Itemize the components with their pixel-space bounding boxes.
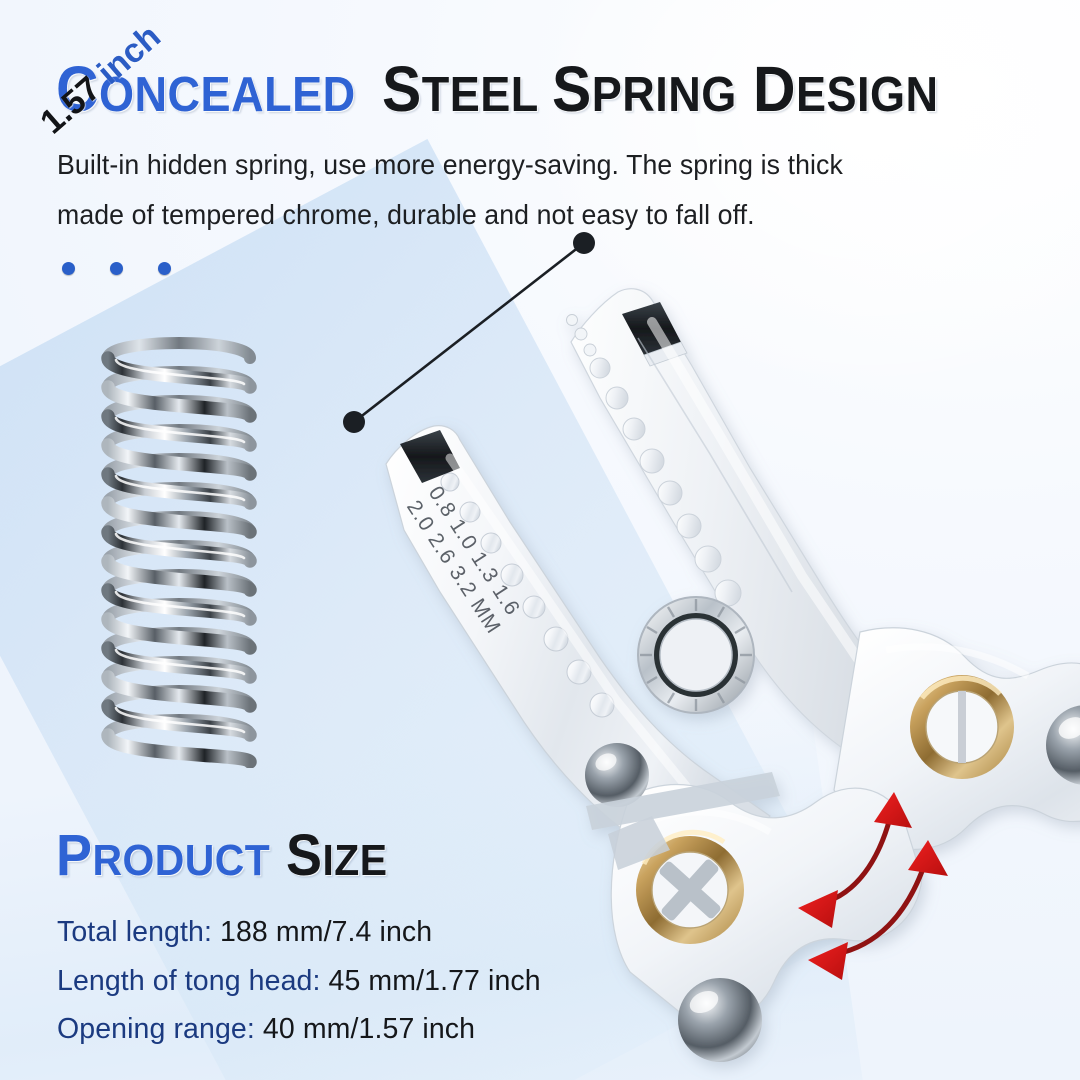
spec-label: Length of tong head: — [57, 965, 320, 997]
spec-value: 188 mm/7.4 inch — [212, 916, 432, 948]
title-rest-2: PRING — [592, 68, 737, 122]
spec-label: Total length: — [57, 916, 212, 948]
title-cap-2: S — [552, 53, 592, 125]
dimension-callout — [320, 225, 610, 445]
size-title-rest-0: RODUCT — [92, 836, 270, 885]
spec-row: Opening range: 40 mm/1.57 inch — [57, 1005, 541, 1054]
coil-spring-icon — [86, 332, 272, 768]
dimension-endpoint-icon — [343, 411, 365, 433]
title-cap-1: S — [382, 53, 422, 125]
title-cap-3: D — [753, 53, 796, 125]
spec-label: Opening range: — [57, 1013, 255, 1045]
ball-rivet-lower — [678, 978, 762, 1062]
size-title-rest-1: IZE — [323, 836, 388, 885]
spec-row: Total length: 188 mm/7.4 inch — [57, 908, 541, 957]
size-title-cap-0: P — [56, 823, 92, 888]
title-rest-0: ONCEALED — [99, 68, 356, 122]
decorative-dots — [62, 262, 171, 275]
subtitle-line-0: Built-in hidden spring, use more energy-… — [57, 140, 988, 190]
bullet-dot-icon — [62, 262, 75, 275]
product-size-title: PRODUCT SIZE — [56, 822, 396, 889]
spec-row: Length of tong head: 45 mm/1.77 inch — [57, 957, 541, 1006]
brass-bushing-upper — [910, 675, 1014, 779]
page-title: CONCEALED STEEL SPRING DESIGN — [56, 52, 955, 126]
title-rest-1: TEEL — [421, 68, 538, 122]
title-rest-3: ESIGN — [796, 68, 939, 122]
curved-double-arrow-icon — [798, 792, 912, 928]
opening-range-arrows — [680, 770, 980, 980]
size-title-cap-1: S — [286, 823, 322, 888]
spec-value: 45 mm/1.77 inch — [320, 965, 540, 997]
spec-value: 40 mm/1.57 inch — [255, 1013, 475, 1045]
product-spec-list: Total length: 188 mm/7.4 inch Length of … — [57, 908, 541, 1054]
pivot-ring — [638, 597, 754, 713]
dimension-value: 1.57 — [33, 69, 108, 141]
infographic-canvas: CONCEALED STEEL SPRING DESIGN Built-in h… — [0, 0, 1080, 1080]
dimension-line — [354, 243, 584, 422]
bullet-dot-icon — [158, 262, 171, 275]
bullet-dot-icon — [110, 262, 123, 275]
dimension-endpoint-icon — [573, 232, 595, 254]
